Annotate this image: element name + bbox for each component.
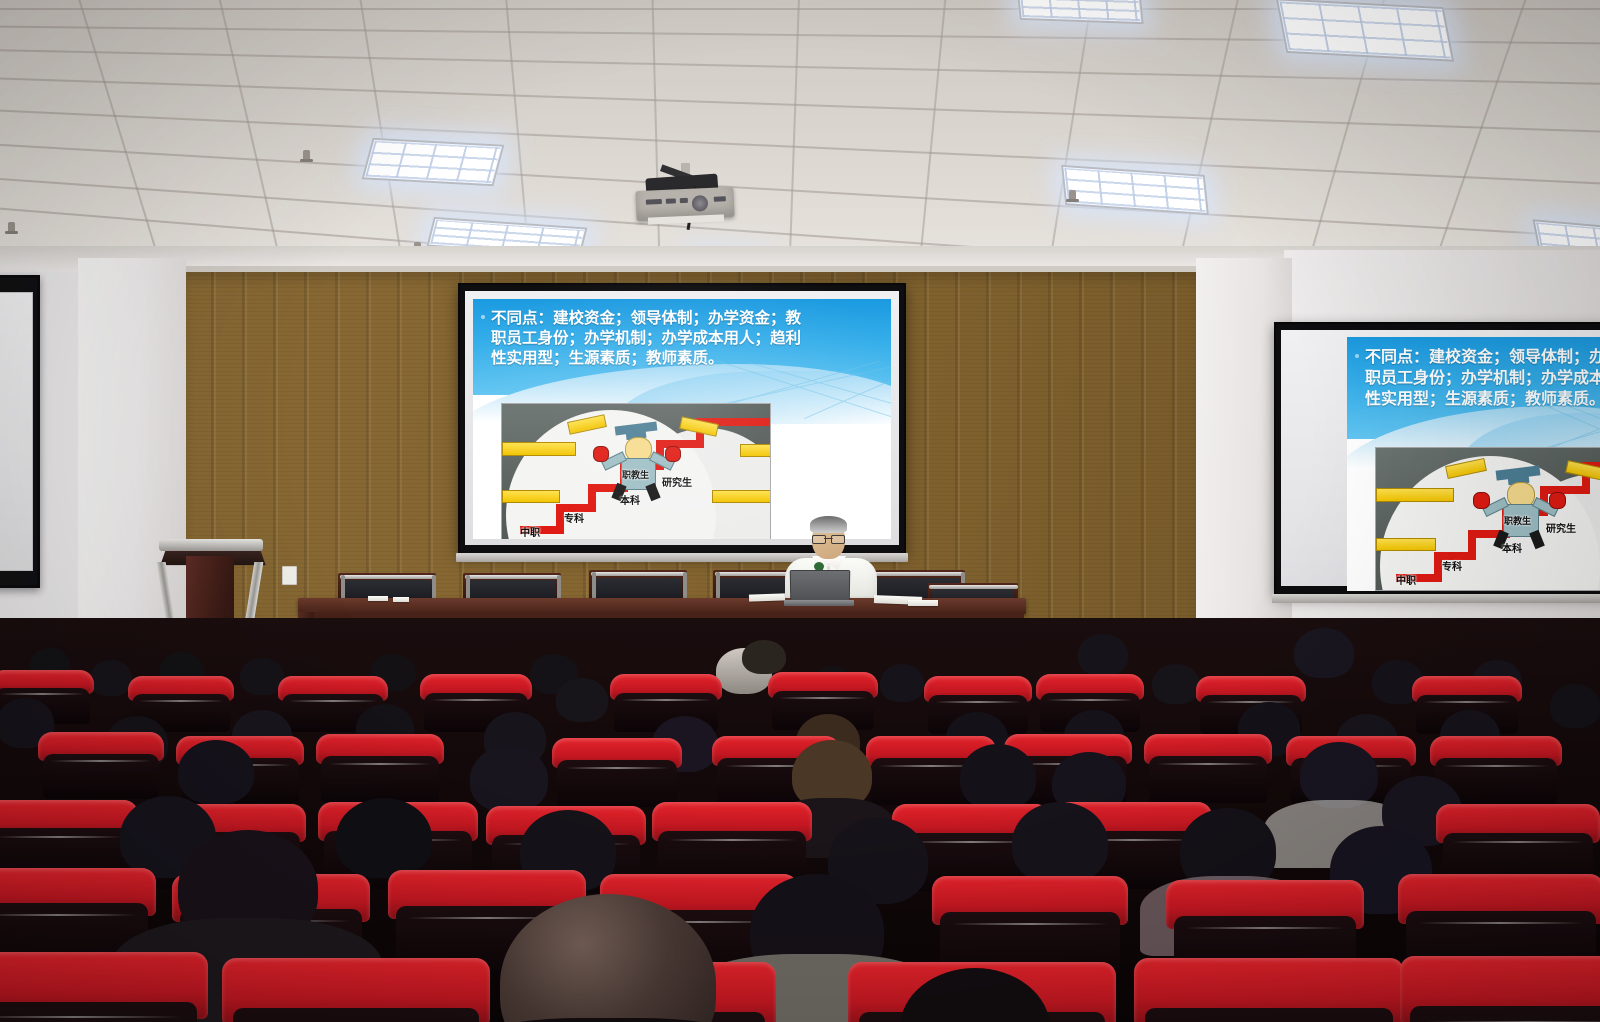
slide-body-text: 不同点：建校资金；领导体制；办学资金；教 职员工身份；办学机制；办学成本用人；趋… [491, 308, 883, 368]
slide-bullet-dot [1355, 354, 1359, 358]
auditorium-seat[interactable] [38, 732, 164, 796]
secondary-projection-screen[interactable]: 不同点：建校资金；领导体制；办学资金；教 职员工身份；办学机制；办学成本用人；趋… [1274, 322, 1600, 596]
audience-head [1012, 802, 1108, 884]
ceiling [0, 0, 1600, 282]
auditorium-seat[interactable] [316, 734, 444, 800]
cartoon-label-stair-4: 研究生 [662, 474, 692, 489]
auditorium-seat[interactable] [0, 952, 208, 1022]
audience-head [1152, 664, 1200, 704]
slide-main: 不同点：建校资金；领导体制；办学资金；教 职员工身份；办学机制；办学成本用人；趋… [473, 299, 891, 539]
auditorium-seat[interactable] [1400, 956, 1600, 1022]
audience-head [742, 640, 786, 674]
audience-head [960, 744, 1036, 810]
presenter-hair [810, 516, 847, 533]
projector-lens [692, 195, 709, 212]
audience-head [336, 798, 432, 878]
document-sheet [908, 600, 938, 606]
stage-chair-post [683, 572, 687, 599]
left-projection-screen [0, 275, 40, 588]
right-screen-surface: 不同点：建校资金；领导体制；办学资金；教 职员工身份；办学机制；办学成本用人；趋… [1281, 330, 1600, 586]
presenter-glasses [812, 535, 845, 542]
main-projection-screen[interactable]: 不同点：建校资金；领导体制；办学资金；教 职员工身份；办学机制；办学成本用人；趋… [458, 283, 906, 555]
sprinkler-head [8, 222, 15, 233]
ceiling-light [1016, 0, 1144, 24]
audience-head [1550, 684, 1600, 728]
slide-cartoon: 职教生 研究生 本科 专科 中职 [501, 403, 771, 539]
stage-chair-post [716, 572, 720, 599]
document-sheet [368, 596, 388, 601]
slide-bullet-dot [481, 315, 485, 319]
stage-chair-rail [591, 572, 687, 576]
audience-head [1294, 628, 1354, 678]
auditorium-seat[interactable] [1134, 958, 1404, 1022]
cartoon-label-stair-1: 中职 [520, 524, 540, 539]
audience-head [1078, 634, 1128, 676]
audience-area [0, 618, 1600, 1022]
left-screen-surface [0, 292, 33, 571]
slide-right: 不同点：建校资金；领导体制；办学资金；教 职员工身份；办学机制；办学成本用人；趋… [1347, 337, 1600, 591]
slide-cartoon: 职教生 研究生 本科 专科 中职 [1375, 447, 1600, 591]
stage-chair-rail [465, 575, 561, 579]
cartoon-label-character: 职教生 [622, 468, 649, 481]
audience-head [1300, 742, 1378, 808]
cartoon-label-stair-3: 本科 [620, 492, 640, 507]
audience-head [178, 740, 254, 804]
main-screen-surface: 不同点：建校资金；领导体制；办学资金；教 职员工身份；办学机制；办学成本用人；趋… [465, 291, 899, 545]
cartoon-label-stair-1: 中职 [1396, 572, 1416, 587]
audience-head [556, 678, 608, 722]
lectern-top-rail [159, 539, 263, 551]
sprinkler-head [303, 150, 310, 161]
stage-chair-rail [929, 585, 1018, 589]
stage-chair-rail [871, 572, 965, 576]
auditorium-seat[interactable] [222, 958, 490, 1022]
laptop-base[interactable] [784, 600, 854, 606]
screen-bottom-bar [1272, 594, 1600, 603]
cartoon-label-character: 职教生 [1504, 514, 1531, 527]
document-sheet [393, 597, 409, 602]
laptop-screen[interactable] [790, 570, 851, 603]
auditorium-seat[interactable] [552, 738, 682, 804]
document-sheet [749, 593, 785, 601]
audience-head [470, 746, 548, 812]
wall-outlet[interactable] [282, 566, 297, 585]
cartoon-label-stair-4: 研究生 [1546, 520, 1576, 535]
lecture-hall-photo: 不同点：建校资金；领导体制；办学资金；教 职员工身份；办学机制；办学成本用人；趋… [0, 0, 1600, 1022]
slide-body-text: 不同点：建校资金；领导体制；办学资金；教 职员工身份；办学机制；办学成本用人；趋… [1365, 347, 1600, 409]
sprinkler-head [1069, 190, 1076, 201]
auditorium-seat[interactable] [1144, 734, 1272, 800]
ceiling-light [362, 138, 505, 186]
cartoon-label-stair-2: 专科 [1442, 558, 1462, 573]
cartoon-label-stair-2: 专科 [564, 510, 584, 525]
stage-chair-post [592, 572, 596, 599]
audience-head [880, 664, 924, 702]
stage-chair-rail [340, 575, 436, 579]
cartoon-label-stair-3: 本科 [1502, 540, 1522, 555]
ceiling-light [1276, 0, 1454, 62]
audience-head [90, 660, 132, 696]
